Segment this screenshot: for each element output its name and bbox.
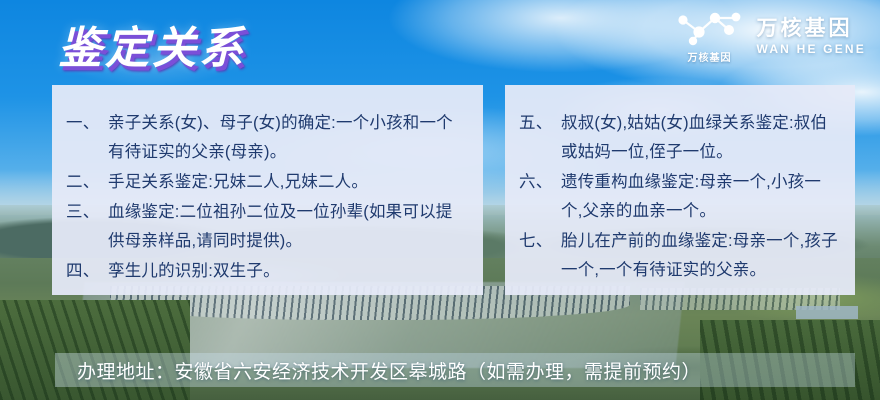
page-title: 鉴定关系 [58,12,246,76]
list-item-text: 血缘鉴定:二位祖孙二位及一位孙辈(如果可以提供母亲样品,请同时提供)。 [108,198,469,256]
list-item-number: 三、 [66,198,108,256]
list-item: 七、 胎儿在产前的血缘鉴定:母亲一个,孩子一个,一个有待证实的父亲。 [519,227,841,285]
molecule-icon [672,8,746,48]
relations-panel-right: 五、 叔叔(女),姑姑(女)血绿关系鉴定:叔伯或姑妈一位,侄子一位。 六、 遗传… [505,85,855,295]
brand-name-en: WAN HE GENE [756,43,866,55]
poster-root: 鉴定关系 [0,0,880,400]
list-item: 五、 叔叔(女),姑姑(女)血绿关系鉴定:叔伯或姑妈一位,侄子一位。 [519,109,841,167]
list-item-text: 叔叔(女),姑姑(女)血绿关系鉴定:叔伯或姑妈一位,侄子一位。 [561,109,841,167]
list-item: 六、 遗传重构血缘鉴定:母亲一个,小孩一个,父亲的血亲一个。 [519,168,841,226]
list-item: 四、 孪生儿的识别:双生子。 [66,257,469,286]
list-item: 二、 手足关系鉴定:兄妹二人,兄妹二人。 [66,168,469,197]
brand-mark: 万核基因 [672,8,746,64]
list-item-number: 一、 [66,109,108,167]
list-item-text: 孪生儿的识别:双生子。 [108,257,469,286]
address-bar: 办理地址：安徽省六安经济技术开发区皋城路（如需办理，需提前预约） [55,353,855,387]
list-item-number: 五、 [519,109,561,167]
list-item-text: 胎儿在产前的血缘鉴定:母亲一个,孩子一个,一个有待证实的父亲。 [561,227,841,285]
list-item: 一、 亲子关系(女)、母子(女)的确定:一个小孩和一个有待证实的父亲(母亲)。 [66,109,469,167]
list-item-text: 手足关系鉴定:兄妹二人,兄妹二人。 [108,168,469,197]
address-text: 办理地址：安徽省六安经济技术开发区皋城路（如需办理，需提前预约） [55,357,701,384]
list-item-number: 六、 [519,168,561,226]
background-building [796,306,858,319]
list-item: 三、 血缘鉴定:二位祖孙二位及一位孙辈(如果可以提供母亲样品,请同时提供)。 [66,198,469,256]
list-item-text: 亲子关系(女)、母子(女)的确定:一个小孩和一个有待证实的父亲(母亲)。 [108,109,469,167]
list-item-number: 四、 [66,257,108,286]
list-item-text: 遗传重构血缘鉴定:母亲一个,小孩一个,父亲的血亲一个。 [561,168,841,226]
brand-logo: 万核基因 万核基因 WAN HE GENE [672,8,866,64]
brand-mark-label: 万核基因 [687,49,731,64]
list-item-number: 七、 [519,227,561,285]
brand-wordmark: 万核基因 WAN HE GENE [756,18,866,55]
brand-name-cn: 万核基因 [756,18,866,39]
list-item-number: 二、 [66,168,108,197]
relations-panel-left: 一、 亲子关系(女)、母子(女)的确定:一个小孩和一个有待证实的父亲(母亲)。 … [52,85,483,295]
